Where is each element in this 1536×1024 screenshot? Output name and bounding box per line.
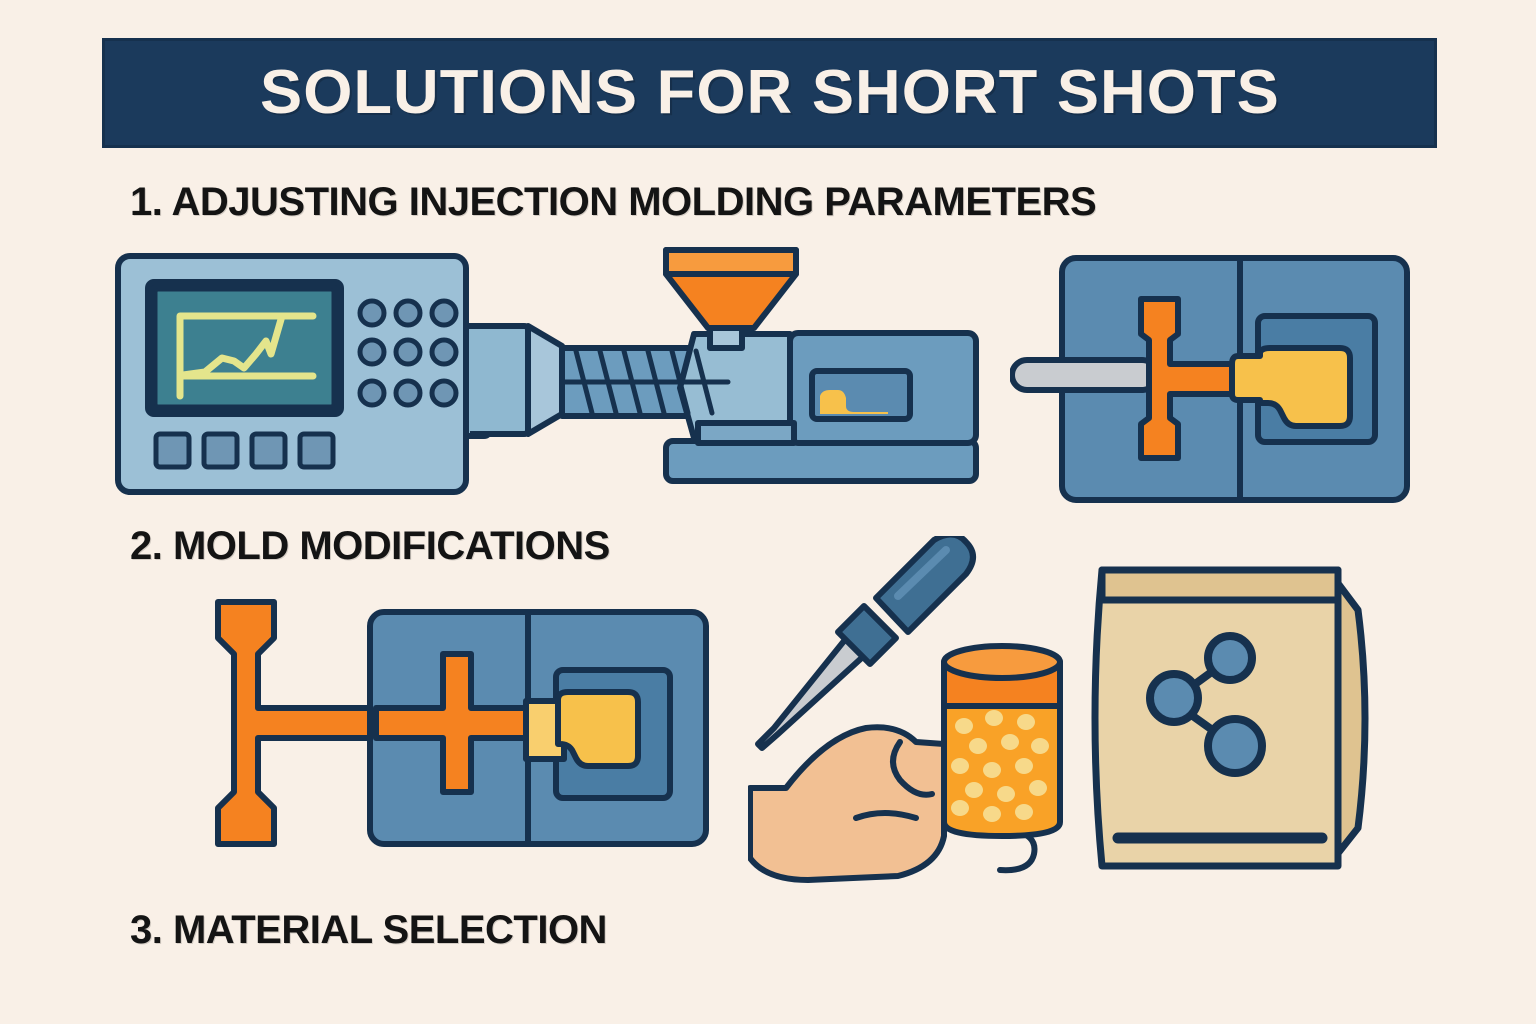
panel-round-button <box>396 381 420 405</box>
injection-nozzle <box>1012 360 1157 390</box>
panel-round-button <box>432 340 456 364</box>
page-title: SOLUTIONS FOR SHORT SHOTS <box>260 62 1280 124</box>
panel-square-button <box>252 434 285 467</box>
panel-round-button <box>360 301 384 325</box>
panel-square-button <box>204 434 237 467</box>
section-heading-3: 3. MATERIAL SELECTION <box>130 908 607 953</box>
molecule-node-top <box>1208 636 1252 680</box>
hopper-lip <box>666 250 796 274</box>
bag-top-seal <box>1102 570 1338 600</box>
section-heading-1: 1. ADJUSTING INJECTION MOLDING PARAMETER… <box>130 180 1096 225</box>
screwdriver-handle <box>876 536 973 632</box>
screwdriver-icon <box>758 536 973 748</box>
machine-barrel-taper <box>528 326 562 434</box>
mold-cross-section-illustration <box>1010 248 1420 508</box>
runner-and-mold-illustration <box>190 588 720 858</box>
machine-drive-block <box>470 326 530 434</box>
panel-round-button <box>360 381 384 405</box>
panel-round-button <box>360 340 384 364</box>
hand-palm <box>750 727 944 880</box>
control-panel-illustration <box>110 248 490 508</box>
panel-round-button-grid <box>360 301 456 405</box>
infographic-canvas: SOLUTIONS FOR SHORT SHOTS 1. ADJUSTING I… <box>0 0 1536 1024</box>
panel-round-button <box>396 340 420 364</box>
panel-round-button <box>432 301 456 325</box>
screwdriver-hand-jar-illustration <box>748 536 1078 886</box>
panel-square-button <box>156 434 189 467</box>
title-banner: SOLUTIONS FOR SHORT SHOTS <box>102 38 1437 148</box>
machine-base <box>666 441 976 481</box>
material-bag-illustration <box>1080 548 1390 888</box>
molecule-node-left <box>1150 674 1198 722</box>
section-heading-2: 2. MOLD MODIFICATIONS <box>130 524 610 569</box>
molecule-node-bottom <box>1208 719 1262 773</box>
injection-machine-illustration <box>470 238 990 488</box>
jar-rim <box>944 646 1060 678</box>
machine-under-plate <box>698 423 794 443</box>
panel-square-button <box>300 434 333 467</box>
panel-round-button <box>432 381 456 405</box>
panel-round-button <box>396 301 420 325</box>
bag-front <box>1095 570 1338 866</box>
